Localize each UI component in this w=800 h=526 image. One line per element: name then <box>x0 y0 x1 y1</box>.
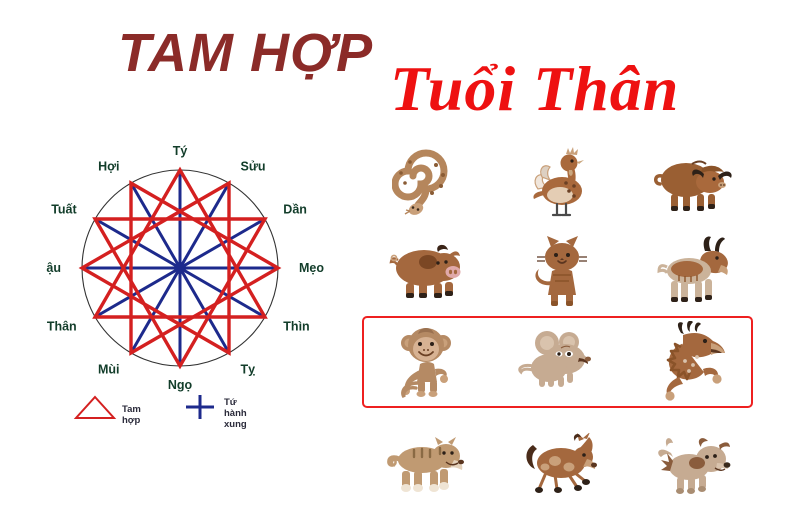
zodiac-branch-label: Tỵ <box>241 362 256 376</box>
animal-cell-dog[interactable] <box>627 424 760 510</box>
buffalo-illustration <box>652 154 734 216</box>
zodiac-branch-label: Dậu <box>46 261 61 275</box>
page-title: TAM HỢP <box>118 22 373 84</box>
zodiac-branch-label: Thìn <box>283 320 309 334</box>
legend-item-tu-hanh-xung: Tứ hành xung <box>182 392 218 427</box>
animal-grid <box>360 142 760 514</box>
blue-cross-icon <box>182 392 218 422</box>
animal-cell-buffalo[interactable] <box>627 142 760 228</box>
dog-illustration <box>653 435 733 499</box>
page-subtitle-accent: Tuổi Thân <box>390 52 679 126</box>
tam-hop-highlight-box <box>362 316 753 408</box>
zodiac-branch-label: Mẹo <box>299 261 324 275</box>
legend-label-tu-hanh-xung: Tứ hành xung <box>224 397 247 430</box>
rooster-illustration <box>522 147 598 223</box>
legend-item-tam-hop: Tam hợp <box>72 392 118 427</box>
zodiac-wheel-svg: TýSửuDầnMẹoThìnTỵNgọMùiThânDậuTuấtHợi <box>46 126 336 396</box>
zodiac-wheel: TýSửuDầnMẹoThìnTỵNgọMùiThânDậuTuấtHợi <box>46 126 336 396</box>
zodiac-branch-label: Hợi <box>98 160 119 174</box>
pig-illustration <box>388 242 466 304</box>
zodiac-branch-label: Mùi <box>98 362 120 376</box>
red-triangle-icon <box>72 392 118 422</box>
zodiac-branch-label: Thân <box>47 320 77 334</box>
zodiac-branch-label: Tuất <box>51 203 77 217</box>
animal-cell-goat[interactable] <box>627 230 760 316</box>
animal-cell-horse[interactable] <box>493 424 626 510</box>
animal-cell-tiger[interactable] <box>360 424 493 510</box>
zodiac-branch-label: Tý <box>173 144 188 158</box>
zodiac-branch-label: Dần <box>283 203 307 217</box>
zodiac-branch-label: Sửu <box>241 160 266 174</box>
tu-hanh-xung-lines <box>82 170 278 366</box>
tiger-illustration <box>384 436 470 498</box>
poster-canvas: TAM HỢP Tuổi Thân TýSửuDầnMẹoThìnTỵNgọMù… <box>0 0 800 526</box>
animal-cell-rooster[interactable] <box>493 142 626 228</box>
horse-illustration <box>517 433 603 501</box>
snake-illustration <box>392 149 462 221</box>
goat-illustration <box>653 235 733 311</box>
animal-row <box>360 424 760 510</box>
animal-cell-cat[interactable] <box>493 230 626 316</box>
animal-row <box>360 230 760 316</box>
cat-illustration <box>529 235 591 311</box>
animal-cell-pig[interactable] <box>360 230 493 316</box>
animal-cell-snake[interactable] <box>360 142 493 228</box>
legend: Tam hợp Tứ hành xung <box>72 388 342 434</box>
legend-label-tam-hop: Tam hợp <box>122 404 141 426</box>
animal-row <box>360 142 760 228</box>
